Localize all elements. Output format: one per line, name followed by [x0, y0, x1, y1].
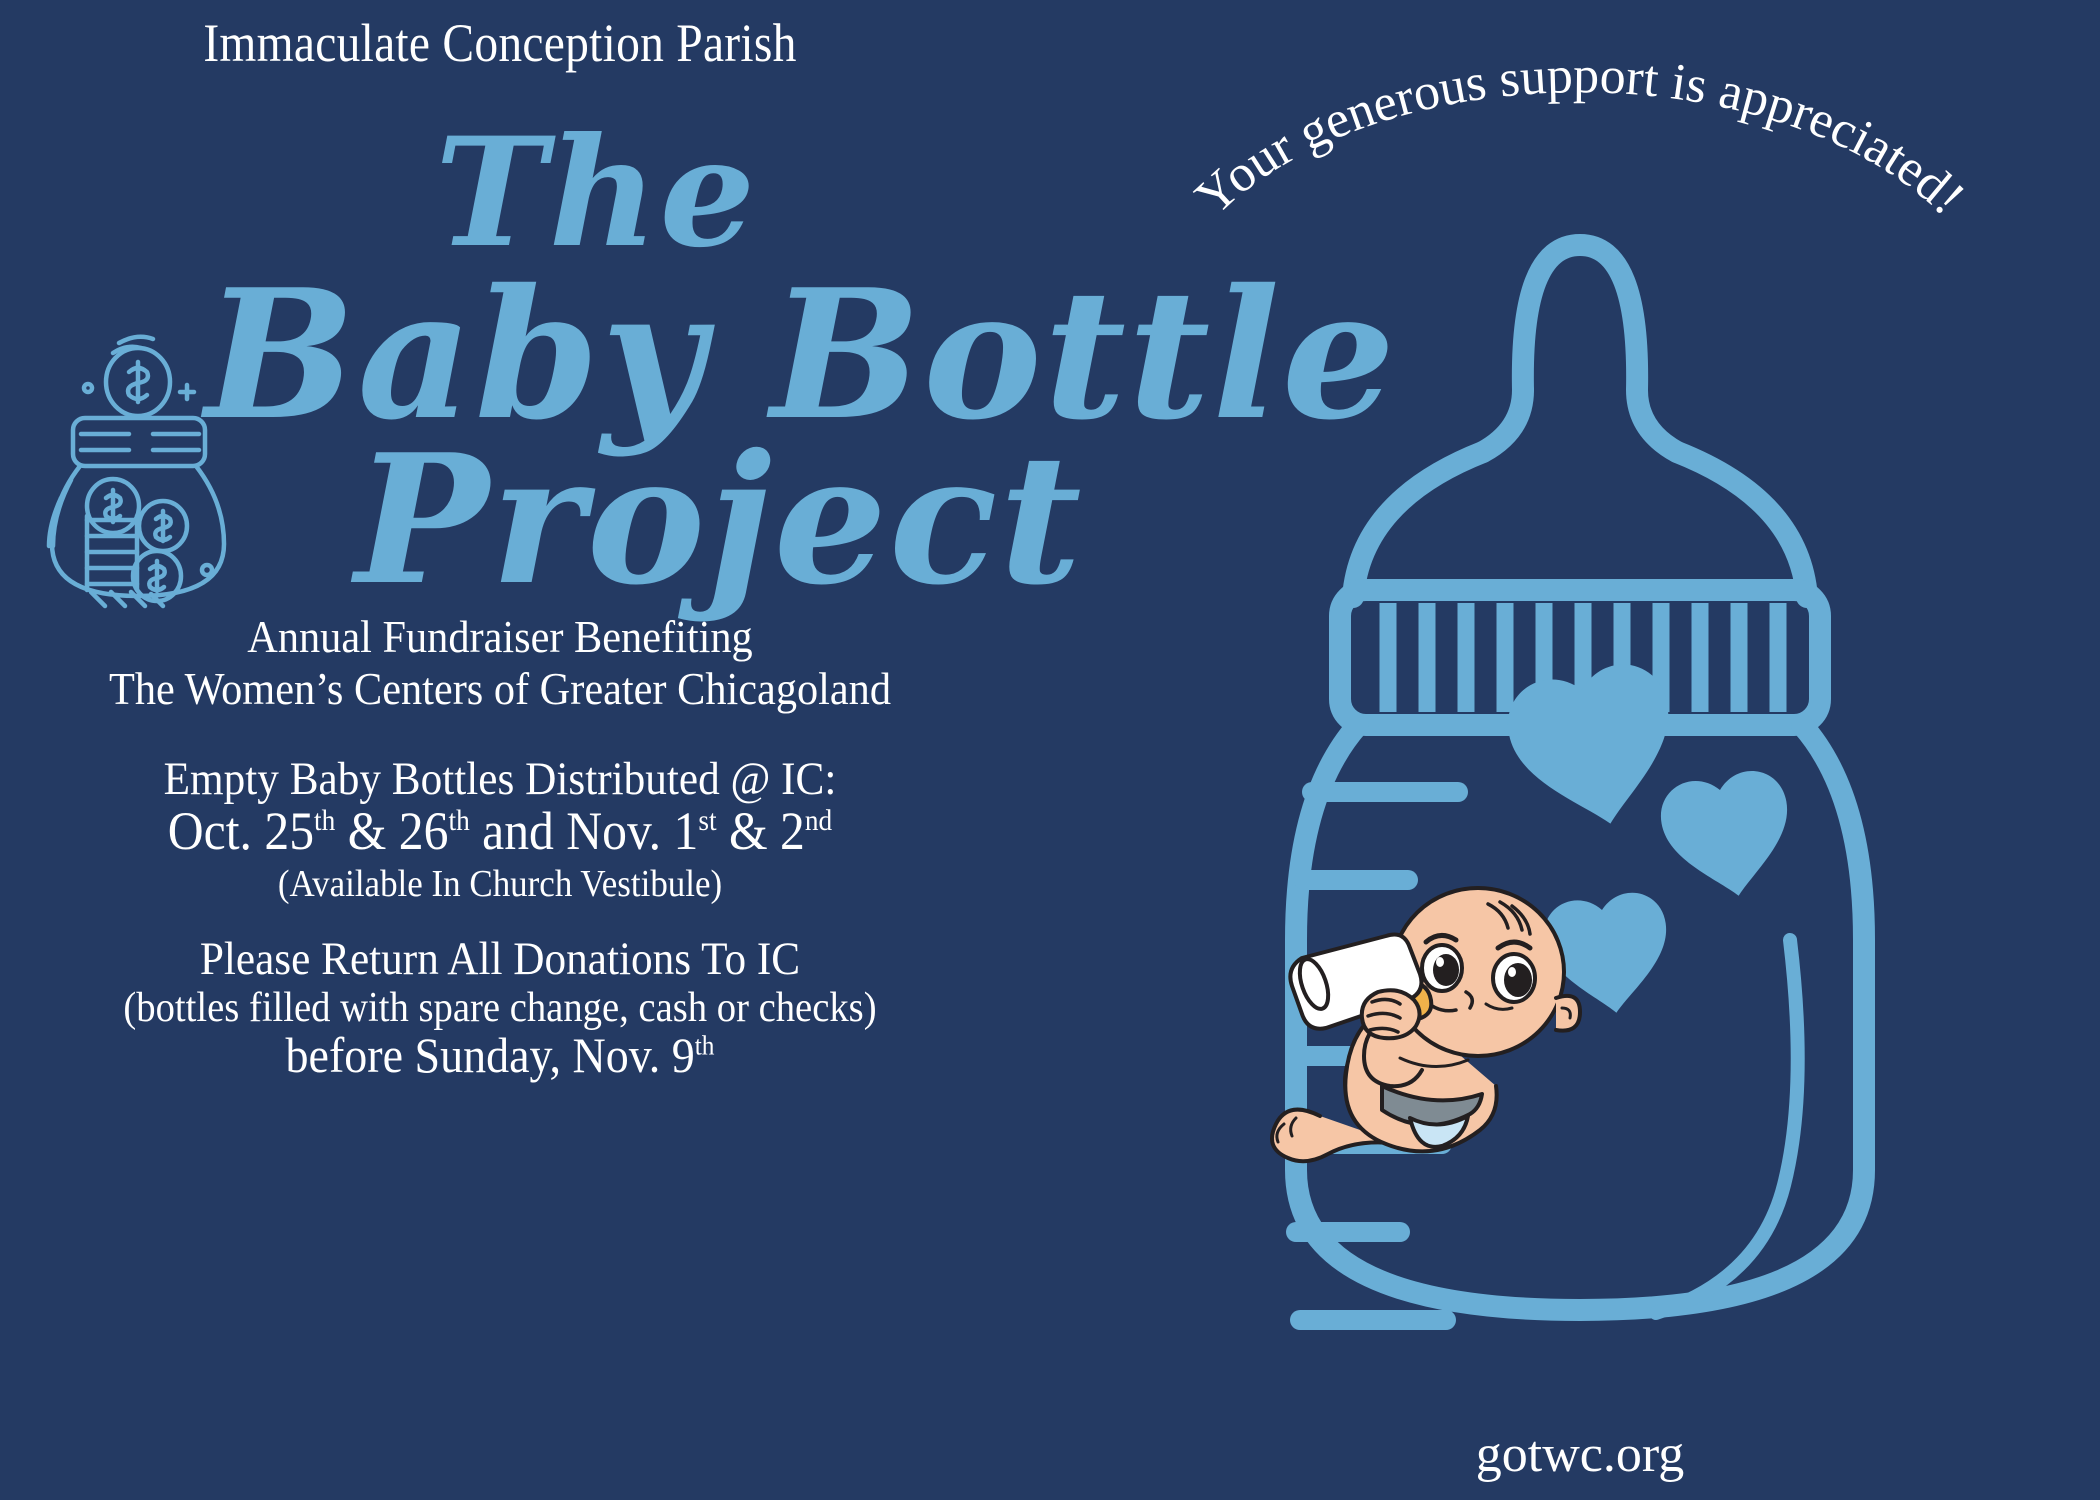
- fundraiser-line-1: Annual Fundraiser Benefiting: [40, 610, 960, 663]
- return-detail: (bottles filled with spare change, cash …: [40, 984, 960, 1032]
- heart-icon: [1655, 766, 1801, 907]
- bottle-dome-right: [1677, 452, 1807, 597]
- distribution-dates: Oct. 25th & 26th and Nov. 1st & 2nd: [40, 800, 960, 862]
- dates-sup-2: th: [448, 805, 469, 837]
- fundraiser-line-2: The Women’s Centers of Greater Chicagola…: [40, 662, 960, 715]
- dates-sup-1: th: [314, 805, 335, 837]
- deadline-prefix: before Sunday, Nov. 9: [286, 1027, 695, 1083]
- distribution-heading: Empty Baby Bottles Distributed @ IC:: [40, 752, 960, 806]
- deadline-sup: th: [695, 1029, 715, 1060]
- bottle-shine: [1656, 940, 1798, 1313]
- website-url[interactable]: gotwc.org: [1240, 1425, 1920, 1484]
- return-heading: Please Return All Donations To IC: [40, 932, 960, 986]
- return-deadline: before Sunday, Nov. 9th: [40, 1026, 960, 1084]
- dates-mid-1: & 26: [335, 801, 448, 861]
- money-jar-icon: [35, 330, 245, 610]
- dates-mid-2: and Nov. 1: [470, 801, 699, 861]
- baby-bottle-icon: [1230, 120, 1930, 1410]
- dates-sup-3: st: [698, 805, 716, 837]
- dates-sup-4: nd: [805, 805, 832, 837]
- dates-mid-3: & 2: [717, 801, 805, 861]
- flyer-canvas: Immaculate Conception Parish The Baby Bo…: [0, 0, 2100, 1500]
- distribution-note: (Available In Church Vestibule): [40, 862, 960, 906]
- bottle-dome-left: [1353, 452, 1483, 597]
- baby-drinking-bottle-icon: [1250, 880, 1610, 1210]
- dates-prefix: Oct. 25: [168, 801, 314, 861]
- title-line-project: Project: [355, 415, 1084, 624]
- parish-name: Immaculate Conception Parish: [60, 12, 940, 74]
